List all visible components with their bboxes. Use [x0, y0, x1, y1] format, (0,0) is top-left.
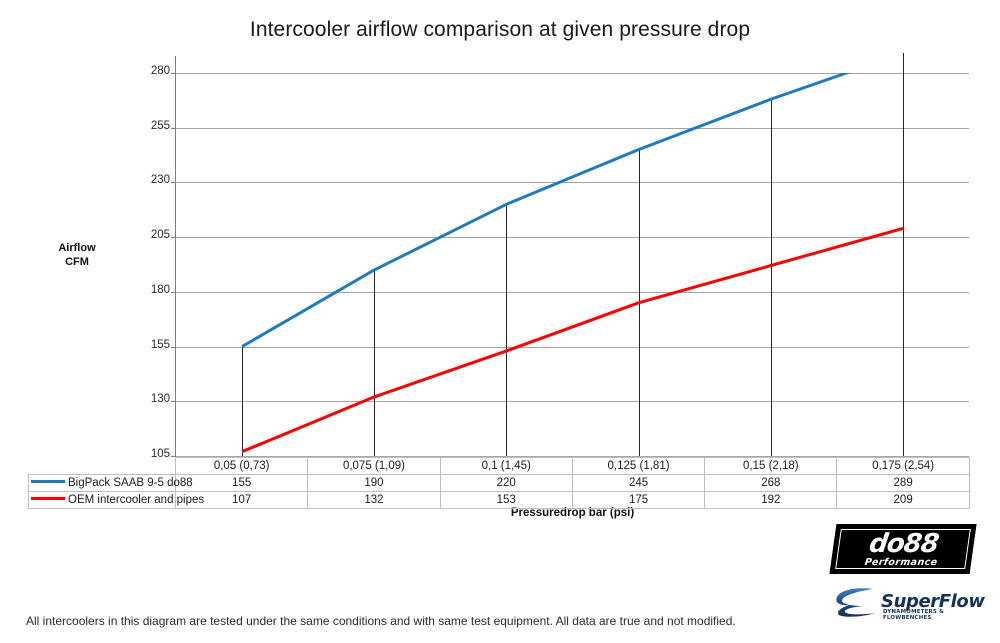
legend-entry: OEM intercooler and pipes: [29, 492, 176, 509]
y-tick-label: 205: [126, 229, 170, 241]
y-axis-label: Airflow CFM: [24, 241, 130, 269]
table-header-cell: 0,175 (2,54): [837, 458, 969, 475]
do88-logo-subtitle: Performance: [832, 557, 970, 568]
table-row: BigPack SAAB 9-5 do88155190220245268289: [29, 475, 970, 492]
legend-series-label: BigPack SAAB 9-5 do88: [68, 477, 193, 489]
table-header-cell: 0,05 (0,73): [176, 458, 308, 475]
legend-color-swatch: [31, 480, 65, 483]
table-row: 0,05 (0,73)0,075 (1,09)0,1 (1,45)0,125 (…: [29, 458, 970, 475]
table-header-cell: 0,1 (1,45): [440, 458, 572, 475]
series-line-oem: [242, 228, 903, 451]
do88-logo-word: do88: [834, 529, 974, 559]
legend-entry: BigPack SAAB 9-5 do88: [29, 475, 176, 492]
table-value-cell: 209: [837, 492, 969, 509]
table-value-cell: 268: [705, 475, 837, 492]
table-value-cell: 192: [705, 492, 837, 509]
table-value-cell: 245: [572, 475, 704, 492]
table-header-cell: 0,125 (1,81): [572, 458, 704, 475]
superflow-logo: SuperFlow DYNAMOMETERS & FLOWBENCHES: [833, 585, 975, 623]
table-corner-cell: [29, 458, 176, 475]
series-lines: [176, 73, 969, 456]
superflow-swoosh-icon: [833, 585, 879, 619]
table-header-cell: 0,075 (1,09): [308, 458, 440, 475]
y-tick-label: 155: [126, 339, 170, 351]
table-value-cell: 153: [440, 492, 572, 509]
table-value-cell: 220: [440, 475, 572, 492]
table-value-cell: 132: [308, 492, 440, 509]
y-tick-label: 255: [126, 120, 170, 132]
superflow-logo-subtitle: DYNAMOMETERS & FLOWBENCHES: [883, 609, 975, 621]
chart-page: Intercooler airflow comparison at given …: [0, 0, 1000, 643]
y-tick-label: 230: [126, 174, 170, 186]
table-value-cell: 175: [572, 492, 704, 509]
y-tick-label: 130: [126, 393, 170, 405]
data-table: 0,05 (0,73)0,075 (1,09)0,1 (1,45)0,125 (…: [28, 457, 970, 509]
table-row: OEM intercooler and pipes107132153175192…: [29, 492, 970, 509]
table-value-cell: 155: [176, 475, 308, 492]
table-header-cell: 0,15 (2,18): [705, 458, 837, 475]
table-value-cell: 190: [308, 475, 440, 492]
plot-area: [176, 73, 969, 456]
page-title: Intercooler airflow comparison at given …: [0, 18, 1000, 42]
y-axis-label-line2: CFM: [65, 256, 89, 268]
y-axis-label-line1: Airflow: [58, 242, 95, 254]
y-tick-label: 280: [126, 65, 170, 77]
do88-logo: do88 Performance: [829, 524, 976, 574]
legend-color-swatch: [31, 497, 65, 500]
y-tick-label: 180: [126, 284, 170, 296]
footnote-text: All intercoolers in this diagram are tes…: [26, 614, 736, 628]
table-value-cell: 289: [837, 475, 969, 492]
legend-series-label: OEM intercooler and pipes: [68, 494, 204, 506]
series-line-bigpack: [242, 73, 903, 347]
